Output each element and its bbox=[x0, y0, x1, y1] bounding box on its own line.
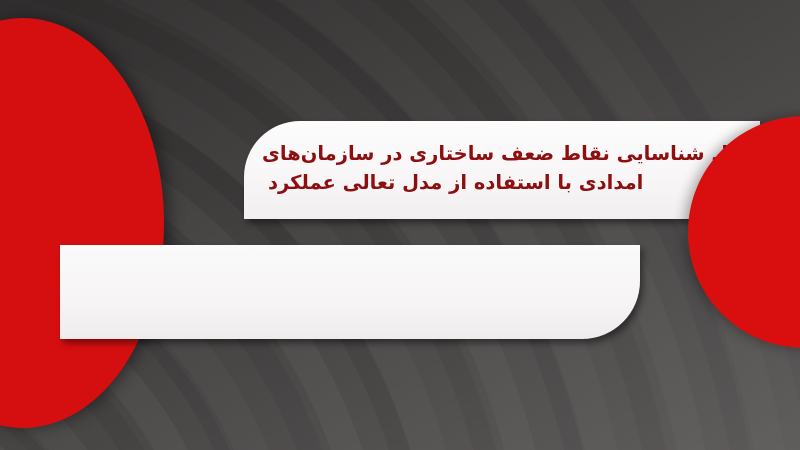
title-line-1: کامل شناسایی نقاط ضعف ساختاری در سازمان‌… bbox=[262, 139, 760, 168]
content-panel bbox=[60, 245, 640, 339]
presentation-slide: کامل شناسایی نقاط ضعف ساختاری در سازمان‌… bbox=[0, 0, 800, 450]
title-panel: کامل شناسایی نقاط ضعف ساختاری در سازمان‌… bbox=[244, 121, 760, 219]
title-line-2: امدادی با استفاده از مدل تعالی عملکرد bbox=[262, 168, 643, 197]
